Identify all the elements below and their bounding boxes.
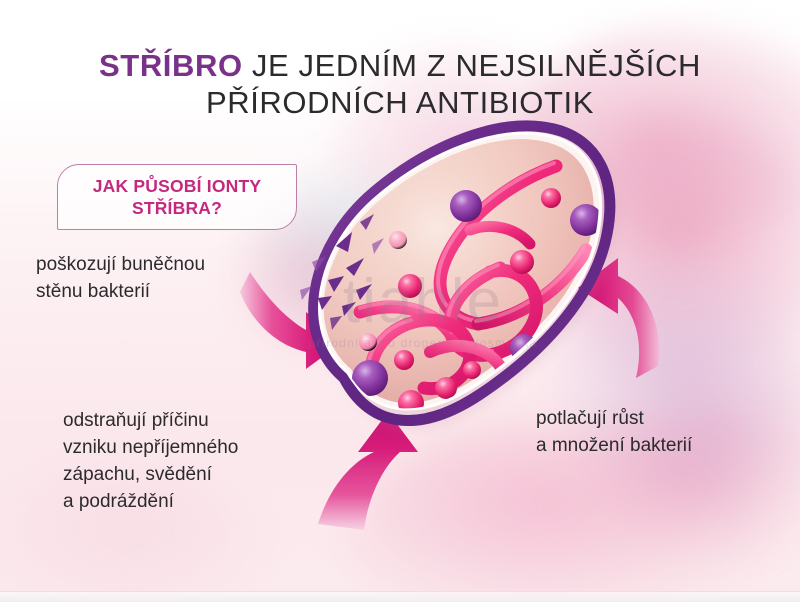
label-damage-wall: poškozují buněčnou stěnu bakterií (36, 252, 205, 306)
question-callout-text: JAK PŮSOBÍ IONTY STŘÍBRA? (58, 175, 296, 220)
question-callout: JAK PŮSOBÍ IONTY STŘÍBRA? (57, 164, 297, 230)
title-line1-rest: JE JEDNÍM Z NEJSILNĚJŠÍCH (243, 48, 701, 83)
title-keyword: STŘÍBRO (99, 48, 243, 83)
label-suppress-growth: potlačují růst a množení bakterií (536, 406, 692, 460)
infographic-canvas: tiahle přírodní a bio drogerie & kosmeti… (0, 0, 800, 602)
arrow-bottom-icon (318, 412, 418, 530)
bacterium-cell (300, 126, 616, 430)
title-line2: PŘÍRODNÍCH ANTIBIOTIK (0, 84, 800, 121)
bottom-edge-strip (0, 591, 800, 602)
label-remove-cause: odstraňují příčinu vzniku nepříjemného z… (63, 408, 238, 516)
page-title: STŘÍBRO JE JEDNÍM Z NEJSILNĚJŠÍCH PŘÍROD… (0, 47, 800, 121)
